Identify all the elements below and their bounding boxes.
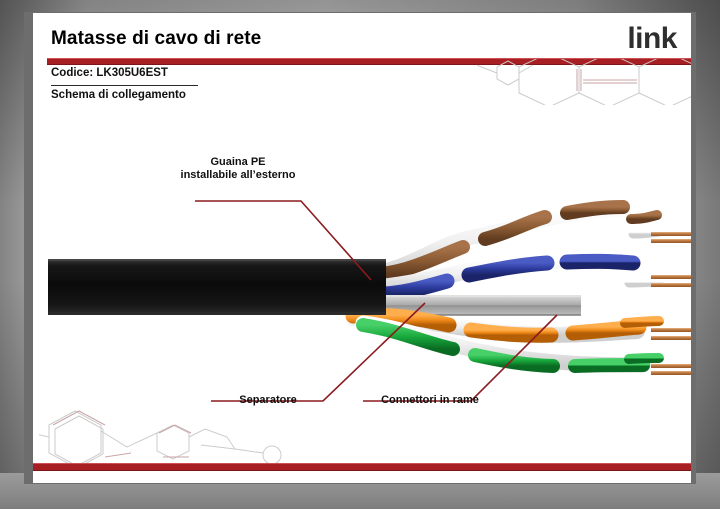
- label-separator: Separatore: [213, 394, 323, 407]
- label-jacket-line1: Guaina PE: [210, 156, 265, 168]
- document-page: Matasse di cavo di rete link Codice: LK3…: [33, 13, 691, 483]
- footer-divider-rule: [33, 463, 691, 471]
- slide-canvas: Matasse di cavo di rete link Codice: LK3…: [0, 0, 720, 509]
- label-jacket-line2: installabile all’esterno: [181, 169, 296, 181]
- cable-illustration: [33, 13, 691, 483]
- label-connectors: Connettori in rame: [355, 394, 505, 407]
- label-jacket: Guaina PE installabile all’esterno: [163, 156, 313, 182]
- cable-jacket: [48, 259, 386, 315]
